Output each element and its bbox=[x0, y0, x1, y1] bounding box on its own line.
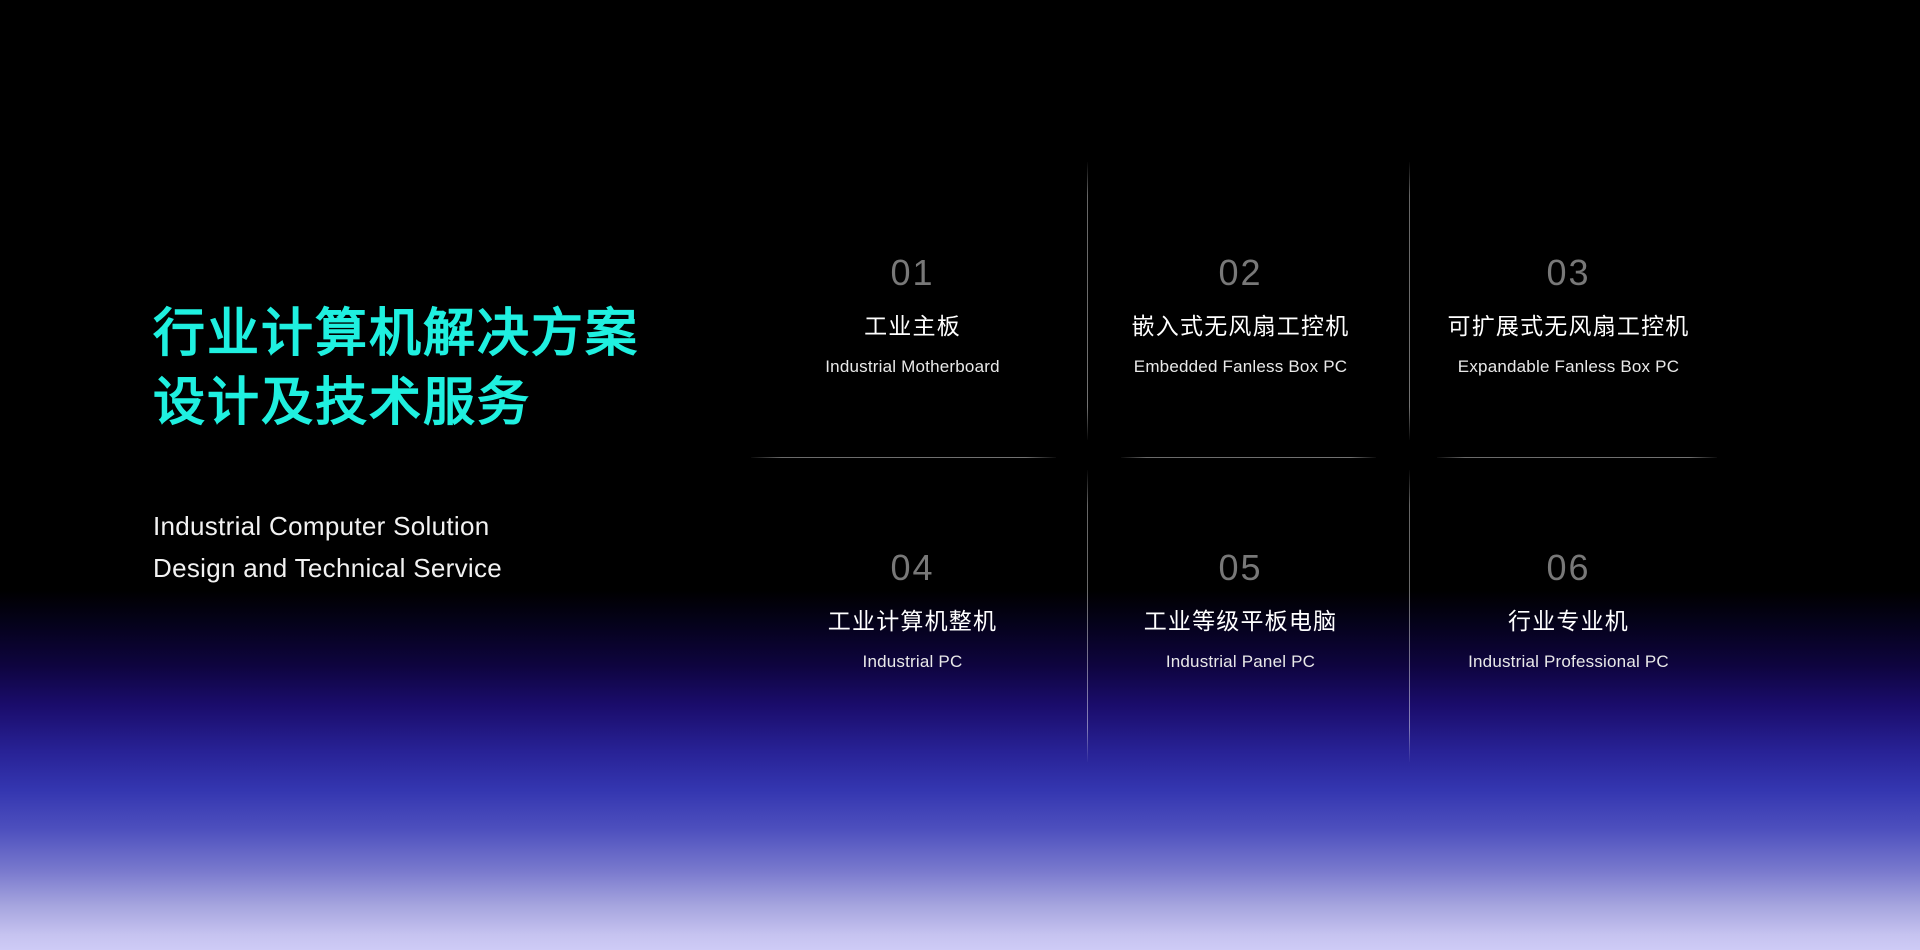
category-name-en: Industrial Panel PC bbox=[1079, 652, 1402, 672]
category-name-cn: 工业等级平板电脑 bbox=[1079, 608, 1402, 636]
product-category-grid: 01 工业主板 Industrial Motherboard 02 嵌入式无风扇… bbox=[751, 160, 1721, 780]
headline-line-1: 行业计算机解决方案 bbox=[153, 300, 713, 369]
category-number: 06 bbox=[1407, 550, 1730, 586]
category-item-04[interactable]: 04 工业计算机整机 Industrial PC bbox=[751, 550, 1074, 672]
category-item-01[interactable]: 01 工业主板 Industrial Motherboard bbox=[751, 255, 1074, 377]
category-item-03[interactable]: 03 可扩展式无风扇工控机 Expandable Fanless Box PC bbox=[1407, 255, 1730, 377]
category-number: 04 bbox=[751, 550, 1074, 586]
hero-headline-block: 行业计算机解决方案 设计及技术服务 bbox=[153, 300, 713, 438]
category-name-en: Industrial Professional PC bbox=[1407, 652, 1730, 672]
hero-subtitle-block: Industrial Computer Solution Design and … bbox=[153, 505, 753, 589]
category-number: 05 bbox=[1079, 550, 1402, 586]
category-item-05[interactable]: 05 工业等级平板电脑 Industrial Panel PC bbox=[1079, 550, 1402, 672]
category-name-cn: 行业专业机 bbox=[1407, 608, 1730, 636]
category-name-cn: 嵌入式无风扇工控机 bbox=[1079, 313, 1402, 341]
category-number: 03 bbox=[1407, 255, 1730, 291]
slide-canvas: 行业计算机解决方案 设计及技术服务 Industrial Computer So… bbox=[0, 0, 1920, 950]
category-name-cn: 工业计算机整机 bbox=[751, 608, 1074, 636]
category-number: 02 bbox=[1079, 255, 1402, 291]
category-name-en: Embedded Fanless Box PC bbox=[1079, 357, 1402, 377]
headline-line-2: 设计及技术服务 bbox=[153, 369, 713, 438]
category-name-en: Industrial Motherboard bbox=[751, 357, 1074, 377]
category-name-en: Industrial PC bbox=[751, 652, 1074, 672]
category-item-06[interactable]: 06 行业专业机 Industrial Professional PC bbox=[1407, 550, 1730, 672]
category-name-cn: 工业主板 bbox=[751, 313, 1074, 341]
category-name-cn: 可扩展式无风扇工控机 bbox=[1407, 313, 1730, 341]
category-number: 01 bbox=[751, 255, 1074, 291]
category-item-02[interactable]: 02 嵌入式无风扇工控机 Embedded Fanless Box PC bbox=[1079, 255, 1402, 377]
category-name-en: Expandable Fanless Box PC bbox=[1407, 357, 1730, 377]
subtitle-line-2: Design and Technical Service bbox=[153, 547, 753, 589]
subtitle-line-1: Industrial Computer Solution bbox=[153, 505, 753, 547]
